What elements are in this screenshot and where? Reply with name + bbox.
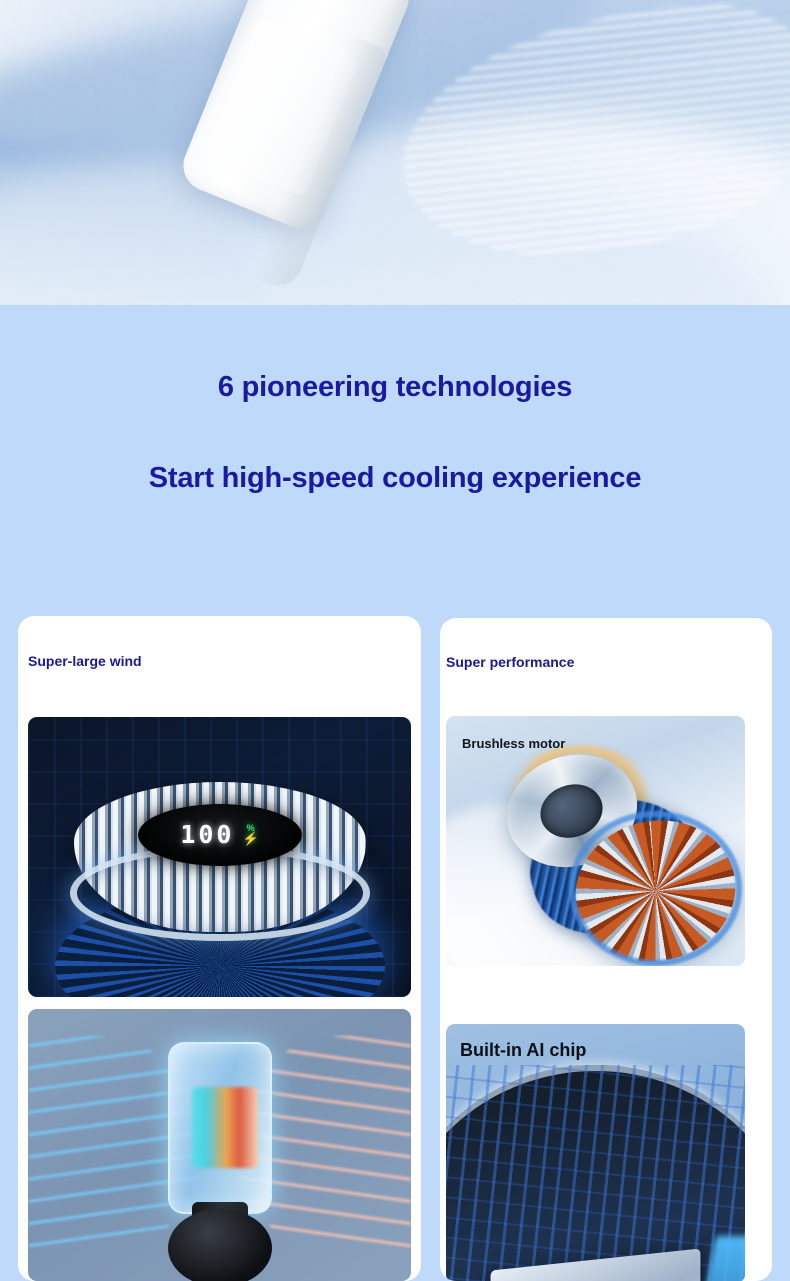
turbine-fan-photo: 100 % ⚡ <box>28 717 411 997</box>
media-overlay-label: Brushless motor <box>462 736 565 751</box>
airflow-visualisation-photo <box>28 1009 411 1281</box>
lightning-bolt-icon: ⚡ <box>242 832 258 845</box>
battery-status-icons: % ⚡ <box>242 824 258 845</box>
headline-secondary: Start high-speed cooling experience <box>0 462 790 495</box>
fan-thermal-core <box>192 1087 258 1168</box>
feature-card-super-large-wind[interactable]: Super-large wind 100 % ⚡ <box>18 616 421 1281</box>
transparent-fan-unit <box>168 1042 272 1214</box>
hero-banner <box>0 0 790 305</box>
feature-card-super-performance[interactable]: Super performance Brushless motor <box>440 618 772 1281</box>
product-detail-page: 6 pioneering technologies Start high-spe… <box>0 0 790 1281</box>
circuit-traces <box>446 1065 745 1281</box>
card-title: Super performance <box>446 654 574 670</box>
fan-base-knob <box>168 1209 272 1281</box>
card-title: Super-large wind <box>28 653 142 669</box>
fan-housing-arc: AI <box>446 1065 745 1281</box>
feature-card-grid: Super-large wind 100 % ⚡ <box>0 616 790 1281</box>
media-overlay-label: Built-in AI chip <box>460 1040 586 1061</box>
battery-percentage-value: 100 <box>180 822 234 847</box>
brushless-motor-photo: Brushless motor <box>446 716 745 966</box>
motor-rotor-band <box>569 811 742 966</box>
ai-chip-photo: AI Built-in AI chip <box>446 1024 745 1281</box>
fan-handle-body <box>176 0 413 236</box>
battery-display: 100 % ⚡ <box>138 804 302 866</box>
headline-primary: 6 pioneering technologies <box>0 371 790 404</box>
